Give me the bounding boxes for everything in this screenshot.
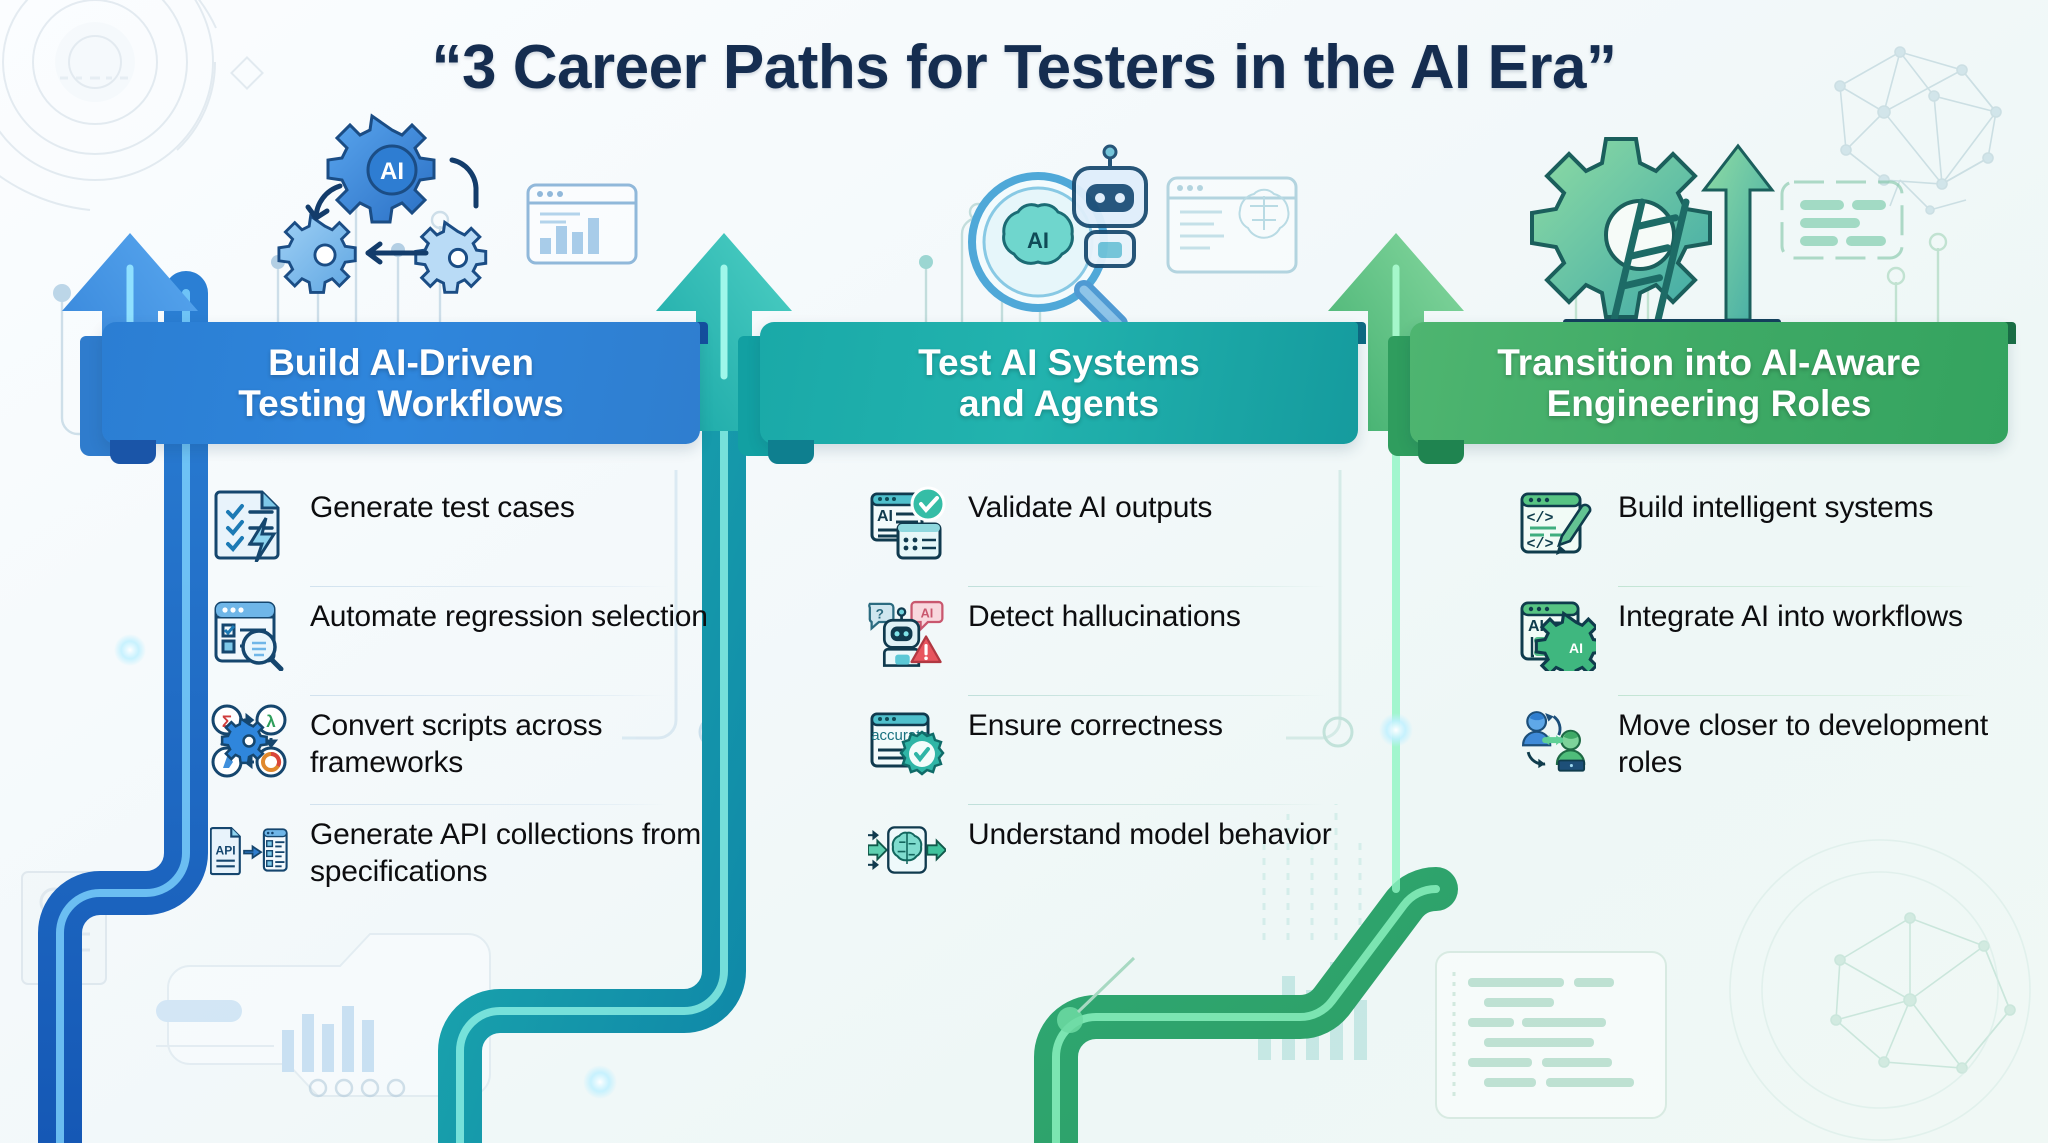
list-item-label: Automate regression selection — [310, 593, 710, 636]
ai-window-check-icon: AI — [868, 484, 946, 562]
svg-text:λ: λ — [266, 712, 276, 731]
list-item-label: Detect hallucinations — [968, 593, 1368, 636]
list-item[interactable]: Understand model behavior — [868, 805, 1368, 913]
banner-build-ai-driven-testing-workflows[interactable]: Build AI-Driven Testing Workflows — [80, 322, 700, 457]
ai-gear-window-icon: AI AI — [1518, 593, 1596, 671]
list-item-label: Build intelligent systems — [1618, 484, 2018, 527]
career-path-column-3: Transition into AI-Aware Engineering Rol… — [1368, 0, 2008, 1143]
career-path-column-2: Test AI Systems and Agents AI — [718, 0, 1358, 1143]
checklist-bolt-icon — [210, 484, 288, 562]
list-item-label: Integrate AI into workflows — [1618, 593, 2018, 636]
list-item-label: Validate AI outputs — [968, 484, 1368, 527]
list-item[interactable]: AI Validate AI outputs — [868, 478, 1368, 586]
list-item-label: Ensure correctness — [968, 702, 1368, 745]
item-divider — [1618, 695, 1976, 696]
list-item[interactable]: ? AI Detect hallucinations — [868, 587, 1368, 695]
banner-line-1: Build AI-Driven — [268, 342, 534, 383]
item-divider — [310, 695, 668, 696]
accurate-badge-icon: accurate — [868, 702, 946, 780]
brain-io-icon — [868, 811, 946, 889]
list-item[interactable]: AI AI Integrate AI into workflows — [1518, 587, 2018, 695]
banner-line-1: Transition into AI-Aware — [1497, 342, 1921, 383]
banner-label: Test AI Systems and Agents — [760, 322, 1358, 444]
list-item-label: Convert scripts across frameworks — [310, 702, 710, 781]
svg-text:AI: AI — [921, 606, 934, 620]
banner-line-2: and Agents — [959, 383, 1159, 424]
api-to-collection-icon: API — [210, 811, 288, 889]
banner-line-2: Engineering Roles — [1547, 383, 1872, 424]
list-item-label: Generate API collections from specificat… — [310, 811, 710, 890]
list-item[interactable]: Σ λ — [210, 696, 710, 804]
banner-label: Transition into AI-Aware Engineering Rol… — [1410, 322, 2008, 444]
item-divider — [968, 695, 1326, 696]
window-search-icon — [210, 593, 288, 671]
list-item-label: Move closer to development roles — [1618, 702, 2018, 781]
banner-drop-shadow — [1418, 440, 1464, 464]
career-path-column-1: Build AI-Driven Testing Workflows — [60, 0, 700, 1143]
banner-label: Build AI-Driven Testing Workflows — [102, 322, 700, 444]
item-divider — [310, 804, 668, 805]
banner-transition-into-ai-aware-engineering-roles[interactable]: Transition into AI-Aware Engineering Rol… — [1388, 322, 2008, 457]
list-item[interactable]: Move closer to development roles — [1518, 696, 2018, 804]
list-item[interactable]: accurate Ensure correctness — [868, 696, 1368, 804]
item-divider — [968, 586, 1326, 587]
svg-text:API: API — [216, 843, 236, 857]
code-edit-icon: </> </> — [1518, 484, 1596, 562]
people-exchange-icon — [1518, 702, 1596, 780]
list-item[interactable]: Generate test cases — [210, 478, 710, 586]
list-item[interactable]: Automate regression selection — [210, 587, 710, 695]
item-divider — [310, 586, 668, 587]
robot-warning-icon: ? AI — [868, 593, 946, 671]
list-item-label: Understand model behavior — [968, 811, 1368, 854]
item-divider — [1618, 586, 1976, 587]
banner-drop-shadow — [110, 440, 156, 464]
item-list-column-2: AI Validate AI outputs — [868, 478, 1368, 913]
svg-text:</>: </> — [1526, 536, 1553, 553]
banner-drop-shadow — [768, 440, 814, 464]
list-item[interactable]: API Generate API collections from specif… — [210, 805, 710, 913]
item-divider — [968, 804, 1326, 805]
banner-line-2: Testing Workflows — [238, 383, 563, 424]
framework-convert-icon: Σ λ — [210, 702, 288, 780]
svg-text:?: ? — [876, 606, 884, 621]
infographic-canvas: AI — [0, 0, 2048, 1143]
item-list-column-1: Generate test cases — [210, 478, 710, 913]
svg-text:AI: AI — [1569, 640, 1583, 656]
list-item[interactable]: </> </> Build intelligent systems — [1518, 478, 2018, 586]
svg-text:</>: </> — [1526, 510, 1553, 527]
list-item-label: Generate test cases — [310, 484, 710, 527]
item-list-column-3: </> </> Build intelligent systems — [1518, 478, 2018, 804]
banner-line-1: Test AI Systems — [918, 342, 1200, 383]
svg-text:AI: AI — [877, 508, 893, 525]
banner-test-ai-systems-and-agents[interactable]: Test AI Systems and Agents — [738, 322, 1358, 457]
